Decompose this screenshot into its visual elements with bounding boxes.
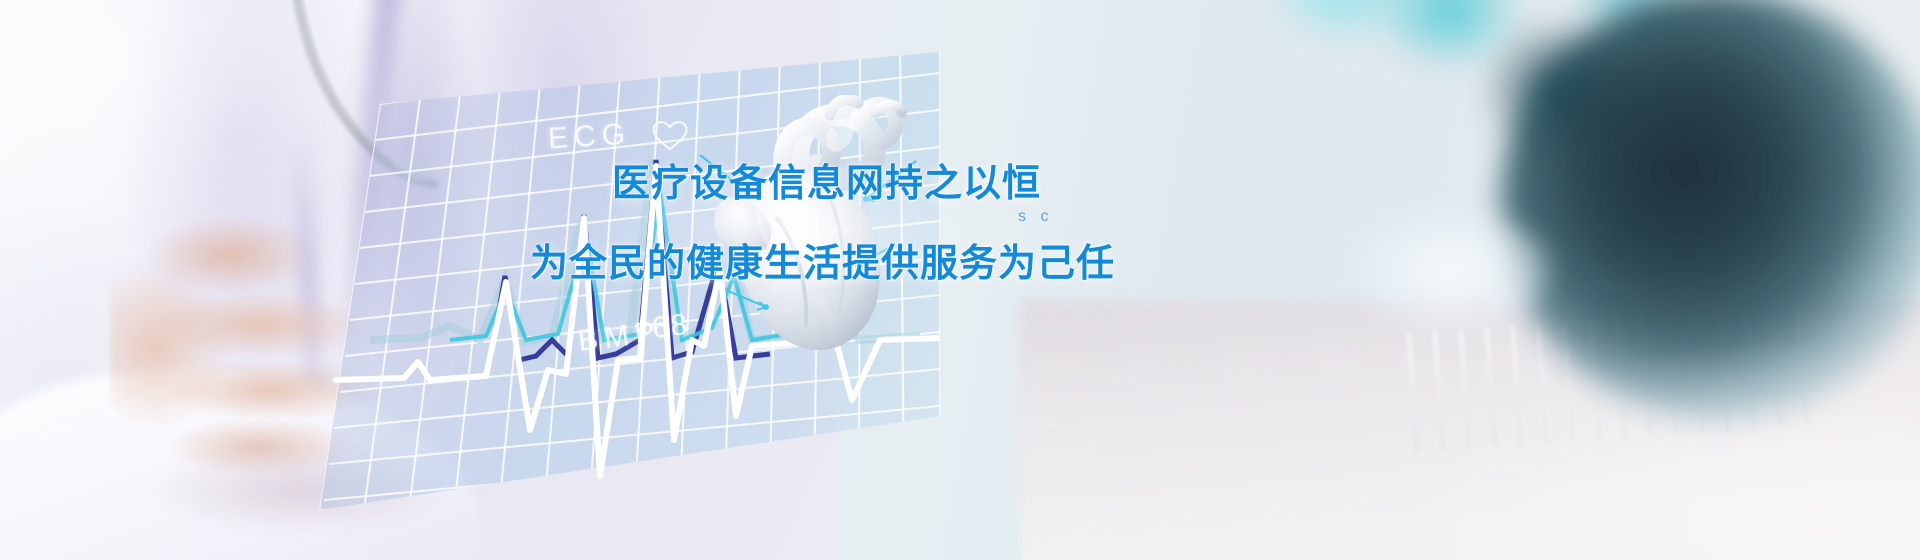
headline-line-1: 医疗设备信息网持之以恒 (612, 165, 1530, 203)
medical-hero-banner: ECG BMP 68 s c 医疗设备信息网持之以恒 为全民的健康生活提供服务为… (0, 0, 1920, 560)
headline-line-2: 为全民的健康生活提供服务为己任 (530, 245, 1530, 283)
heart-outline-icon (650, 118, 690, 152)
headline-block: 医疗设备信息网持之以恒 为全民的健康生活提供服务为己任 (530, 165, 1530, 283)
hud-label-ecg: ECG (547, 117, 632, 156)
hud-label-bmp-value: 68 (650, 308, 691, 346)
